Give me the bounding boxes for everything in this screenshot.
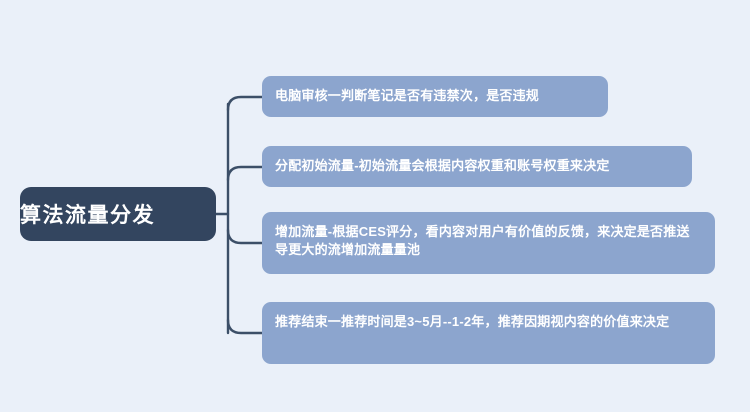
branch-node-label: 增加流量-根据CES评分，看内容对用户有价值的反馈，来决定是否推送导更大的流增加… [275, 223, 702, 260]
root-node[interactable]: 算法流量分发 [20, 187, 216, 241]
branch-node-label: 电脑审核一判断笔记是否有违禁次，是否违规 [275, 87, 595, 105]
mindmap-canvas: 算法流量分发 电脑审核一判断笔记是否有违禁次，是否违规 分配初始流量-初始流量会… [0, 0, 750, 412]
branch-node-initial-traffic[interactable]: 分配初始流量-初始流量会根据内容权重和账号权重来决定 [262, 146, 692, 187]
root-node-label: 算法流量分发 [20, 199, 216, 229]
branch-node-recommend-end[interactable]: 推荐结束一推荐时间是3~5月--1-2年，推荐因期视内容的价值来决定 [262, 302, 715, 364]
branch-node-label: 推荐结束一推荐时间是3~5月--1-2年，推荐因期视内容的价值来决定 [275, 313, 702, 331]
connector-branch-1 [228, 97, 262, 110]
branch-node-label: 分配初始流量-初始流量会根据内容权重和账号权重来决定 [275, 157, 679, 175]
branch-node-increase-traffic[interactable]: 增加流量-根据CES评分，看内容对用户有价值的反馈，来决定是否推送导更大的流增加… [262, 212, 715, 274]
connector-branch-4 [228, 320, 262, 333]
connector-branch-2 [228, 167, 262, 180]
branch-node-review[interactable]: 电脑审核一判断笔记是否有违禁次，是否违规 [262, 76, 608, 117]
connector-branch-3 [228, 230, 262, 243]
